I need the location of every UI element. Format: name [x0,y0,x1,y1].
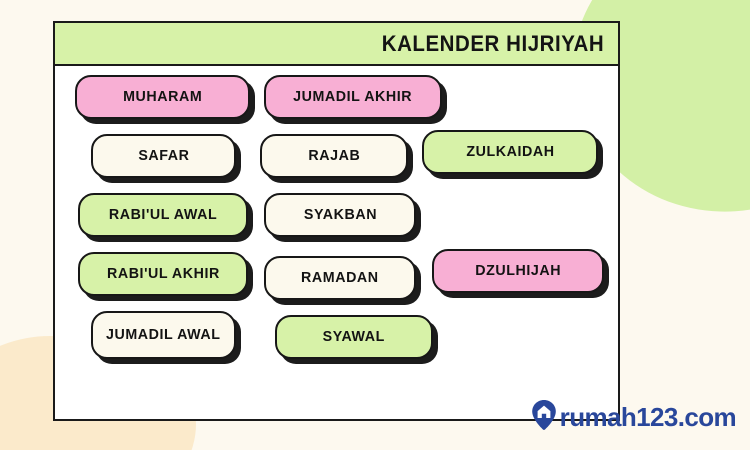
month-pill-label: JUMADIL AKHIR [293,89,412,105]
month-pill[interactable]: JUMADIL AKHIR [264,75,442,119]
month-pill-label: RAMADAN [301,270,379,286]
month-pill-label: RAJAB [308,148,360,164]
month-pill[interactable]: SYAKBAN [264,193,416,237]
month-pill-label: RABI'UL AWAL [109,207,217,223]
rumah123-logo[interactable]: rumah123.com [531,399,736,436]
month-pill[interactable]: RABI'UL AWAL [78,193,248,237]
month-pill[interactable]: MUHARAM [75,75,250,119]
month-pill-label: ZULKAIDAH [466,144,554,160]
month-pill[interactable]: RABI'UL AKHIR [78,252,248,296]
card-header: KALENDER HIJRIYAH [55,23,618,66]
month-pill[interactable]: RAJAB [260,134,408,178]
month-pill[interactable]: JUMADIL AWAL [91,311,236,359]
month-pill-label: DZULHIJAH [475,263,561,279]
month-pill[interactable]: SYAWAL [275,315,433,359]
logo-text: rumah123.com [560,402,736,433]
month-pill-label: JUMADIL AWAL [106,327,221,343]
month-pill-label: SYAWAL [323,329,385,345]
page-title: KALENDER HIJRIYAH [382,31,604,57]
month-pill-label: RABI'UL AKHIR [107,266,220,282]
map-pin-house-icon [531,399,557,436]
month-pill-label: MUHARAM [123,89,202,105]
month-pill[interactable]: DZULHIJAH [432,249,604,293]
month-pill[interactable]: RAMADAN [264,256,416,300]
month-list: MUHARAMSAFARRABI'UL AWALRABI'UL AKHIRJUM… [55,66,618,421]
calendar-card: KALENDER HIJRIYAH MUHARAMSAFARRABI'UL AW… [53,21,620,421]
month-pill-label: SAFAR [138,148,189,164]
month-pill[interactable]: SAFAR [91,134,236,178]
month-pill-label: SYAKBAN [303,207,376,223]
month-pill[interactable]: ZULKAIDAH [422,130,598,174]
